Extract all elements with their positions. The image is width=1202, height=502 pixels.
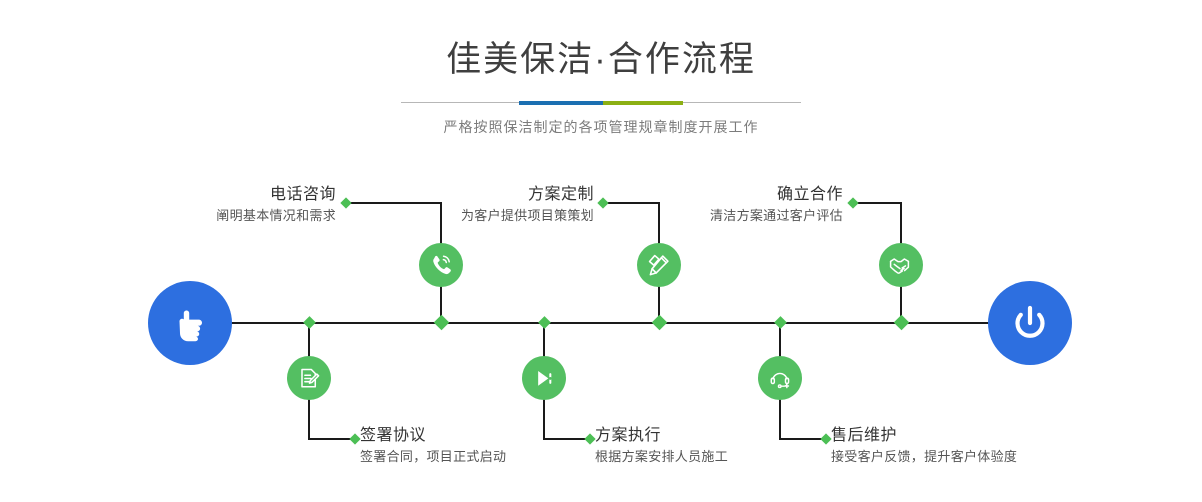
- node-5-leader-line: [853, 202, 901, 204]
- timeline-start-node[interactable]: [148, 281, 232, 365]
- node-4-desc: 根据方案安排人员施工: [595, 448, 815, 466]
- page-subtitle: 严格按照保洁制定的各项管理规章制度开展工作: [0, 117, 1202, 137]
- title-divider: [401, 101, 801, 105]
- node-6-leader-line: [780, 438, 824, 440]
- node-6-label: 售后维护 接受客户反馈，提升客户体验度: [831, 426, 1081, 466]
- node-2-leader-marker: [349, 433, 360, 444]
- document-sign-icon: [297, 366, 322, 391]
- node-6-icon-badge[interactable]: [758, 356, 802, 400]
- pointing-hand-icon: [167, 300, 213, 346]
- node-5-label: 确立合作 清洁方案通过客户评估: [651, 185, 843, 225]
- node-2-axis-marker: [303, 316, 316, 329]
- node-4-leader-line: [544, 438, 588, 440]
- node-5-leader-marker: [847, 197, 858, 208]
- node-3-axis-marker: [652, 315, 668, 331]
- timeline-axis: [150, 322, 1070, 324]
- node-4-axis-marker: [538, 316, 551, 329]
- flow-diagram-page: 佳美保洁·合作流程 严格按照保洁制定的各项管理规章制度开展工作: [0, 0, 1202, 502]
- node-1-desc: 阐明基本情况和需求: [151, 207, 336, 225]
- divider-green-segment: [603, 101, 683, 105]
- timeline-end-node[interactable]: [988, 281, 1072, 365]
- support-agent-add-icon: [768, 366, 793, 391]
- node-4-title: 方案执行: [595, 426, 815, 445]
- node-3-icon-badge[interactable]: [637, 243, 681, 287]
- divider-blue-segment: [519, 101, 603, 105]
- node-6-desc: 接受客户反馈，提升客户体验度: [831, 448, 1081, 466]
- node-4-label: 方案执行 根据方案安排人员施工: [595, 426, 815, 466]
- node-2-leader-line: [309, 438, 353, 440]
- handshake-icon: [888, 252, 914, 278]
- node-1-icon-badge[interactable]: [419, 243, 463, 287]
- node-6-leader-marker: [820, 433, 831, 444]
- node-2-desc: 签署合同，项目正式启动: [360, 448, 580, 466]
- page-title: 佳美保洁·合作流程: [0, 42, 1202, 77]
- node-4-leader-marker: [584, 433, 595, 444]
- node-5-desc: 清洁方案通过客户评估: [651, 207, 843, 225]
- node-1-axis-marker: [434, 315, 450, 331]
- node-3-leader-marker: [597, 197, 608, 208]
- node-4-icon-badge[interactable]: [522, 356, 566, 400]
- node-6-title: 售后维护: [831, 426, 1081, 445]
- node-1-label: 电话咨询 阐明基本情况和需求: [151, 185, 336, 225]
- process-timeline: 电话咨询 阐明基本情况和需求: [0, 150, 1202, 502]
- node-5-axis-marker: [894, 315, 910, 331]
- node-6-axis-marker: [774, 316, 787, 329]
- node-2-title: 签署协议: [360, 426, 580, 445]
- node-3-title: 方案定制: [404, 185, 594, 204]
- node-3-label: 方案定制 为客户提供项目策策划: [404, 185, 594, 225]
- pencil-ruler-icon: [646, 252, 672, 278]
- node-5-title: 确立合作: [651, 185, 843, 204]
- node-1-leader-marker: [340, 197, 351, 208]
- node-3-desc: 为客户提供项目策策划: [404, 207, 594, 225]
- node-1-title: 电话咨询: [151, 185, 336, 204]
- node-2-label: 签署协议 签署合同，项目正式启动: [360, 426, 580, 466]
- node-5-icon-badge[interactable]: [879, 243, 923, 287]
- power-button-icon: [1007, 300, 1053, 346]
- page-header: 佳美保洁·合作流程 严格按照保洁制定的各项管理规章制度开展工作: [0, 0, 1202, 137]
- play-skip-icon: [532, 366, 557, 391]
- node-2-icon-badge[interactable]: [287, 356, 331, 400]
- phone-call-icon: [428, 252, 454, 278]
